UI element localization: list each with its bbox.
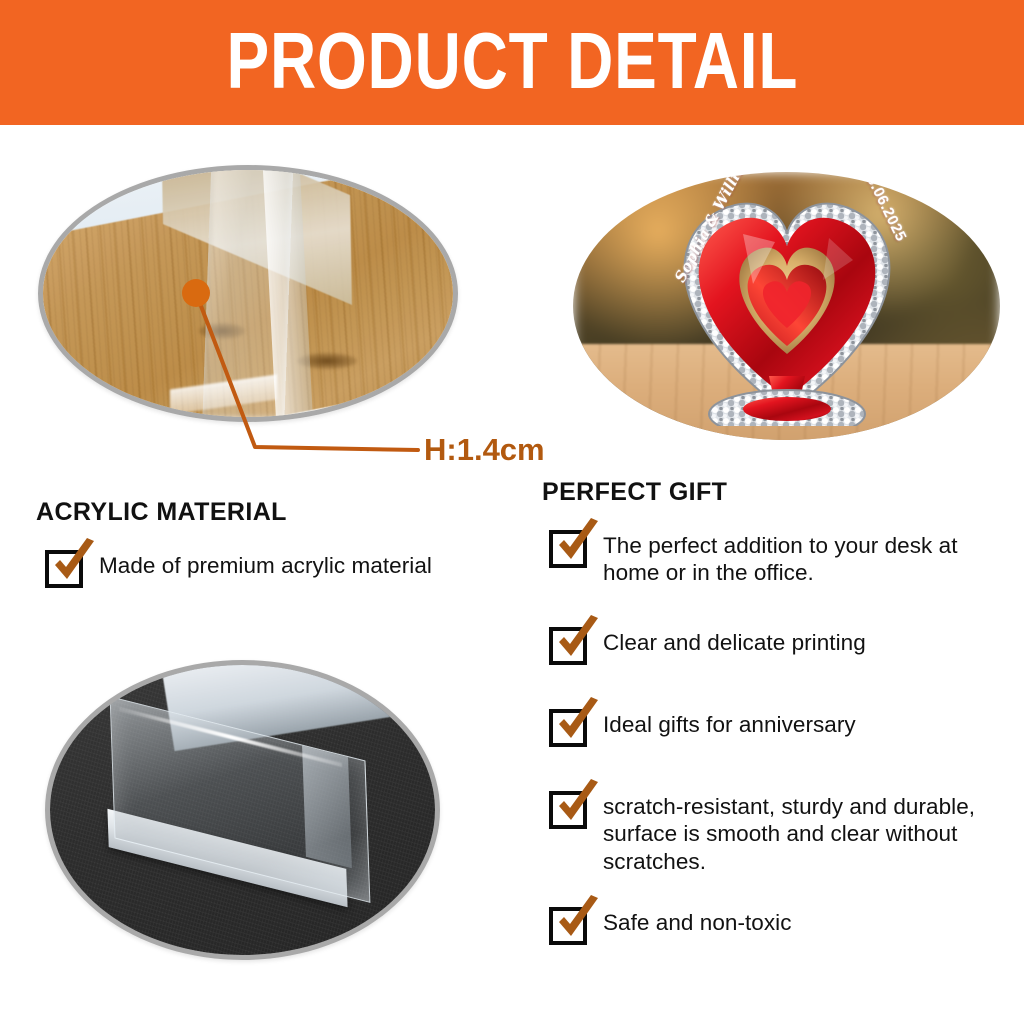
checkbox-icon[interactable] xyxy=(549,709,587,747)
list-item-label: scratch-resistant, sturdy and durable, s… xyxy=(603,789,1003,875)
section-heading-perfect-gift: PERFECT GIFT xyxy=(542,478,727,507)
header-banner: PRODUCT DETAIL xyxy=(0,0,1024,125)
acrylic-edge-scene xyxy=(43,170,453,417)
checkmark-icon xyxy=(551,697,603,747)
list-item-label: Ideal gifts for anniversary xyxy=(603,707,856,738)
checkbox-icon[interactable] xyxy=(549,530,587,568)
dimension-label: H:1.4cm xyxy=(424,432,545,468)
list-item: Made of premium acrylic material xyxy=(45,548,515,588)
checkmark-icon xyxy=(551,779,603,829)
list-item-label: Safe and non-toxic xyxy=(603,905,792,936)
acrylic-block-scene xyxy=(50,665,435,955)
product-detail-page: PRODUCT DETAIL H:1.4cm xyxy=(0,0,1024,1024)
checkbox-icon[interactable] xyxy=(549,907,587,945)
list-item: scratch-resistant, sturdy and durable, s… xyxy=(549,789,1009,875)
list-item: Clear and delicate printing xyxy=(549,625,999,665)
section-heading-acrylic-material: ACRYLIC MATERIAL xyxy=(36,498,287,527)
checkbox-icon[interactable] xyxy=(549,627,587,665)
list-item-label: Made of premium acrylic material xyxy=(99,548,432,579)
page-title: PRODUCT DETAIL xyxy=(226,21,798,101)
acrylic-block-photo xyxy=(45,660,440,960)
list-item: Safe and non-toxic xyxy=(549,905,999,945)
list-item: Ideal gifts for anniversary xyxy=(549,707,999,747)
heart-graphic xyxy=(657,176,917,426)
checkmark-icon xyxy=(47,538,99,588)
list-item-label: Clear and delicate printing xyxy=(603,625,866,656)
crystal-heart-ornament: Sophia & William 06.06.2025 xyxy=(657,176,917,426)
acrylic-edge-photo xyxy=(38,165,458,422)
checkbox-icon[interactable] xyxy=(549,791,587,829)
list-item-label: The perfect addition to your desk at hom… xyxy=(603,528,988,587)
checkmark-icon xyxy=(551,518,603,568)
checkbox-icon[interactable] xyxy=(45,550,83,588)
checkmark-icon xyxy=(551,895,603,945)
heart-ornament-photo: Sophia & William 06.06.2025 xyxy=(573,172,1000,440)
checkmark-icon xyxy=(551,615,603,665)
list-item: The perfect addition to your desk at hom… xyxy=(549,528,999,587)
